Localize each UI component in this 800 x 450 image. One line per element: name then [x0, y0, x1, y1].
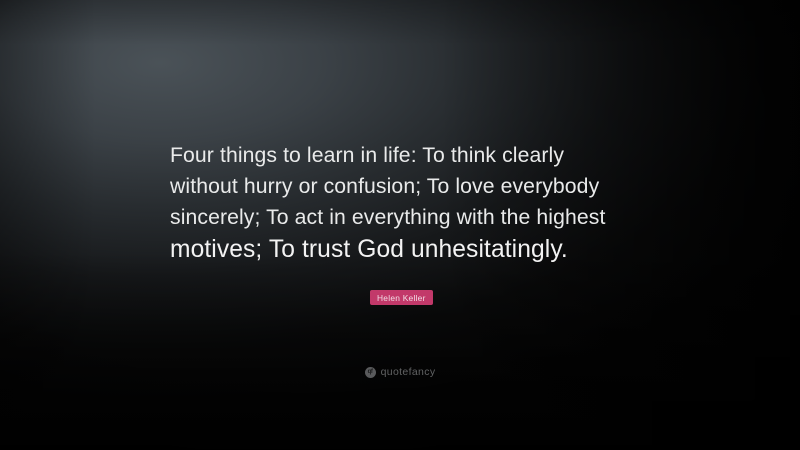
watermark-brand-label: quotefancy [381, 366, 436, 378]
quote-text-block: Four things to learn in life: To think c… [170, 140, 636, 266]
watermark[interactable]: qf quotefancy [0, 366, 800, 378]
author-badge[interactable]: Helen Keller [370, 290, 433, 305]
quotefancy-logo-icon: qf [365, 367, 376, 378]
quotefancy-logo-glyph: qf [368, 369, 373, 375]
quote-wallpaper: Four things to learn in life: To think c… [0, 0, 800, 450]
quote-line: motives; To trust God unhesitatingly. [170, 233, 636, 266]
content-layer: Four things to learn in life: To think c… [0, 0, 800, 450]
quote-line: without hurry or confusion; To love ever… [170, 171, 636, 202]
author-name: Helen Keller [377, 293, 426, 303]
quote-line: Four things to learn in life: To think c… [170, 140, 636, 171]
quote-line: sincerely; To act in everything with the… [170, 202, 636, 233]
